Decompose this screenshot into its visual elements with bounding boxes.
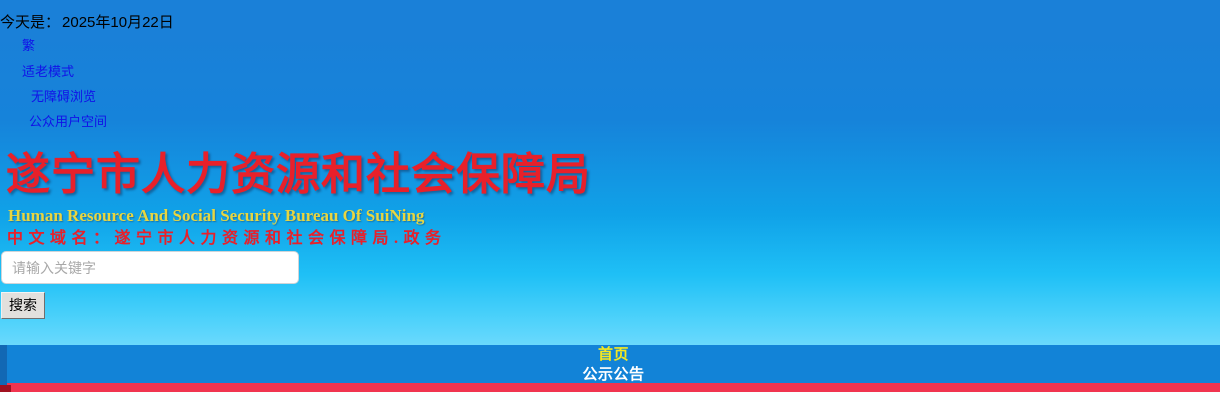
site-title-english: Human Resource And Social Security Burea…: [8, 205, 424, 227]
chinese-domain-name: 中文域名：遂宁市人力资源和社会保障局.政务: [7, 228, 447, 249]
main-nav-bar: 首页 公示公告 新闻动态: [7, 345, 1220, 384]
today-date-value: 2025年10月22日: [62, 14, 174, 31]
nav-item-home[interactable]: 首页: [7, 345, 1220, 365]
traditional-chinese-link[interactable]: 繁: [22, 37, 35, 55]
public-user-space-link[interactable]: 公众用户空间: [29, 113, 107, 131]
content-area-top: [0, 392, 1220, 400]
nav-item-announcements[interactable]: 公示公告: [7, 365, 1220, 385]
today-date-label: 今天是：: [0, 14, 60, 31]
nav-red-divider: [7, 383, 1220, 392]
today-date: 今天是：2025年10月22日: [0, 13, 174, 33]
search-input[interactable]: [1, 251, 299, 284]
search-button[interactable]: 搜索: [1, 292, 45, 319]
accessibility-browsing-link[interactable]: 无障碍浏览: [31, 88, 96, 106]
page-root: 今天是：2025年10月22日 繁 适老模式 无障碍浏览 公众用户空间 遂宁市人…: [0, 0, 1220, 400]
elderly-mode-link[interactable]: 适老模式: [22, 63, 74, 81]
site-title-chinese: 遂宁市人力资源和社会保障局: [6, 150, 591, 200]
